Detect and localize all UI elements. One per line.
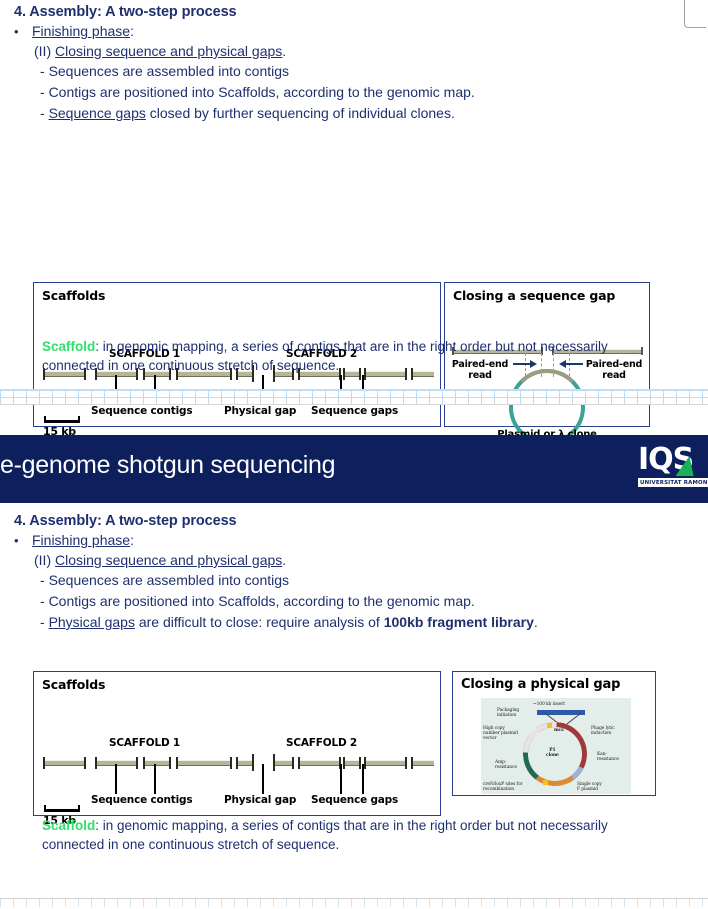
- slide-one: 4. Assembly: A two-step process • Finish…: [0, 0, 708, 390]
- page-corner-rule: [684, 0, 706, 28]
- contig-cap: [273, 754, 275, 771]
- sequence-contigs-label: Sequence contigs: [91, 405, 192, 417]
- contig-cap: [136, 757, 138, 769]
- contig-cap: [176, 757, 178, 769]
- amp-resistance-label: Amp-resistance: [495, 760, 517, 770]
- dash: -: [40, 84, 49, 100]
- plasmid-map-image: ~100 kb insert mcs P1clone Packaginginit…: [481, 698, 631, 794]
- leader-line: [340, 764, 342, 794]
- contig-cap: [230, 757, 232, 769]
- crelox-site-dot: [543, 780, 548, 785]
- contig-cap: [298, 757, 300, 769]
- contig-bar: [144, 760, 169, 766]
- contig-cap: [359, 757, 361, 769]
- p1-clone-label: P1clone: [546, 748, 559, 758]
- scale-tick: [78, 805, 80, 812]
- scaffold-diagram: SCAFFOLD 1 SCAFFOLD 2: [34, 692, 440, 835]
- contig-cap: [236, 757, 238, 769]
- contig-bar: [274, 760, 292, 766]
- scale-bar: [44, 809, 80, 812]
- contig-cap: [252, 754, 254, 771]
- physical-gap-label: Physical gap: [224, 405, 296, 417]
- scaffold-1-label: SCAFFOLD 1: [109, 737, 180, 749]
- iqs-logo: IQS UNIVERSITAT RAMON LLULL: [638, 444, 708, 487]
- contig-cap: [95, 757, 97, 769]
- caption-text: : in genomic mapping, a series of contig…: [42, 339, 608, 373]
- leader-line: [262, 764, 264, 794]
- contig-bar: [365, 760, 405, 766]
- contig-cap: [343, 757, 345, 769]
- point-underlined-term: Sequence gaps: [49, 105, 146, 121]
- contig-cap: [364, 757, 366, 769]
- caption-term: Scaffold: [42, 339, 95, 354]
- sub-underlined: Closing sequence and physical gaps: [55, 552, 282, 568]
- slide-header-band: e-genome shotgun sequencing IQS UNIVERSI…: [0, 435, 708, 503]
- dash: -: [40, 63, 49, 79]
- logo-subtitle: UNIVERSITAT RAMON LLULL: [638, 478, 708, 487]
- high-copy-vector-label: High copynumber plasmidvector: [483, 726, 518, 742]
- contig-cap: [405, 757, 407, 769]
- point-bold-term: 100kb fragment library: [384, 614, 534, 630]
- sequence-contigs-label: Sequence contigs: [91, 794, 192, 806]
- leader-line: [362, 764, 364, 794]
- bullet-finishing-phase: • Finishing phase:: [14, 531, 708, 550]
- point-underlined-term: Physical gaps: [49, 614, 135, 630]
- dash: -: [40, 105, 49, 121]
- slide-two-text-block: 4. Assembly: A two-step process • Finish…: [0, 513, 708, 633]
- physical-gap-figure-title: Closing a physical gap: [453, 672, 655, 692]
- scale-tick: [78, 416, 80, 423]
- point-physical-gaps: - Physical gaps are difficult to close: …: [40, 612, 708, 633]
- sub-prefix: (II): [34, 43, 55, 59]
- point-text: Contigs are positioned into Scaffolds, a…: [49, 593, 475, 609]
- sub-period: .: [282, 552, 286, 568]
- insert-label: ~100 kb insert: [533, 702, 565, 707]
- scaffold-caption-2: Scaffold: in genomic mapping, a series o…: [42, 816, 662, 854]
- point-sequence-gaps: - Sequence gaps closed by further sequen…: [40, 103, 708, 124]
- leader-line: [115, 764, 117, 794]
- scaffold-2-label: SCAFFOLD 2: [286, 737, 357, 749]
- bullet-label: Finishing phase: [32, 532, 130, 548]
- contig-bar: [412, 760, 434, 766]
- dash: -: [40, 614, 49, 630]
- scaffold-caption-1: Scaffold: in genomic mapping, a series o…: [42, 337, 662, 375]
- packaging-site-dot: [547, 723, 552, 728]
- point-text: Contigs are positioned into Scaffolds, a…: [49, 84, 475, 100]
- bullet-label: Finishing phase: [32, 23, 130, 39]
- crelox-sites-label: creN/loxP sites forrecombination: [483, 782, 523, 792]
- bullet-colon: :: [130, 23, 134, 39]
- caption-term: Scaffold: [42, 818, 95, 833]
- contig-bar: [299, 760, 339, 766]
- page-title: 4. Assembly: A two-step process: [14, 4, 708, 20]
- point-text: are difficult to close: require analysis…: [135, 614, 384, 630]
- sequence-gap-figure-title: Closing a sequence gap: [445, 283, 649, 303]
- contig-cap: [143, 757, 145, 769]
- point-text: closed by further sequencing of individu…: [146, 105, 455, 121]
- scaffolds-figure-title: Scaffolds: [34, 672, 440, 692]
- dash: -: [40, 572, 49, 588]
- slide-separator-hatch: [0, 389, 708, 405]
- bullet-dot-icon: •: [14, 531, 32, 550]
- point-text: Sequences are assembled into contigs: [49, 63, 289, 79]
- point-contigs-positioned: - Contigs are positioned into Scaffolds,…: [40, 82, 708, 103]
- scale-tick: [44, 416, 46, 423]
- sequence-gaps-label: Sequence gaps: [311, 405, 398, 417]
- scaffolds-figure-title: Scaffolds: [34, 283, 440, 303]
- point-text: Sequences are assembled into contigs: [49, 572, 289, 588]
- contig-bar: [344, 760, 359, 766]
- scale-bar: [44, 420, 80, 423]
- single-copy-f-plasmid-label: Single copyF plasmid: [577, 782, 602, 792]
- scaffolds-figure-box-2: Scaffolds SCAFFOLD 1 SCAFFOLD 2: [33, 671, 441, 816]
- caption-text: : in genomic mapping, a series of contig…: [42, 818, 608, 852]
- physical-gap-figure-box: Closing a physical gap ~100 kb insert mc…: [452, 671, 656, 796]
- slide-header-title: e-genome shotgun sequencing: [0, 451, 335, 480]
- bullet-colon: :: [130, 532, 134, 548]
- phage-lytic-induction-label: Phage lyticinduction: [591, 726, 615, 736]
- contig-cap: [84, 757, 86, 769]
- packaging-initiation-label: Packaginginitiation: [497, 708, 519, 718]
- point-tail: .: [534, 614, 538, 630]
- sub-heading-closing-gaps: (II) Closing sequence and physical gaps.: [34, 550, 708, 570]
- bullet-finishing-phase: • Finishing phase:: [14, 22, 708, 41]
- point-contigs-positioned: - Contigs are positioned into Scaffolds,…: [40, 591, 708, 612]
- page-title: 4. Assembly: A two-step process: [14, 513, 708, 529]
- kan-resistance-label: Kan-resistance: [597, 752, 619, 762]
- contig-bar: [44, 760, 84, 766]
- logo-green-slash-icon: [676, 456, 699, 476]
- contig-cap: [169, 757, 171, 769]
- contig-bar: [177, 760, 230, 766]
- sub-underlined: Closing sequence and physical gaps: [55, 43, 282, 59]
- sub-heading-closing-gaps: (II) Closing sequence and physical gaps.: [34, 41, 708, 61]
- sequence-gaps-label: Sequence gaps: [311, 794, 398, 806]
- bottom-separator-hatch: [0, 898, 708, 907]
- bullet-dot-icon: •: [14, 22, 32, 41]
- leader-line: [154, 764, 156, 794]
- point-sequences-assembled: - Sequences are assembled into contigs: [40, 61, 708, 82]
- scale-tick: [44, 805, 46, 812]
- contig-cap: [43, 757, 45, 769]
- mcs-label: mcs: [554, 728, 564, 733]
- contig-cap: [411, 757, 413, 769]
- logo-wordmark: IQS: [638, 444, 708, 476]
- contig-bar: [237, 760, 252, 766]
- dash: -: [40, 593, 49, 609]
- physical-gap-label: Physical gap: [224, 794, 296, 806]
- sub-prefix: (II): [34, 552, 55, 568]
- point-sequences-assembled: - Sequences are assembled into contigs: [40, 570, 708, 591]
- sub-period: .: [282, 43, 286, 59]
- slide-two: e-genome shotgun sequencing IQS UNIVERSI…: [0, 435, 708, 909]
- slide-one-text-block: 4. Assembly: A two-step process • Finish…: [0, 0, 708, 124]
- contig-cap: [292, 757, 294, 769]
